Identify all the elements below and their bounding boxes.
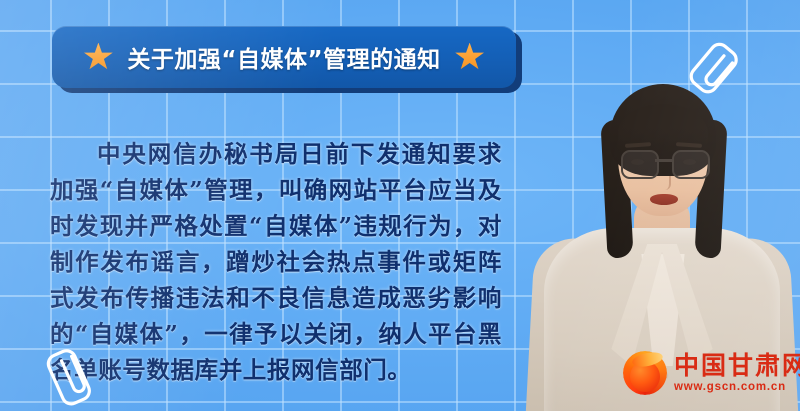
presenter-mouth — [650, 194, 678, 205]
watermark-text: 中国甘肃网 www.gscn.com.cn — [674, 353, 800, 393]
glasses-icon-bridge — [655, 159, 672, 162]
glasses-icon-left-lens — [621, 150, 659, 179]
glasses-icon-right-lens — [672, 150, 710, 179]
video-frame: 关于加强“自媒体”管理的通知 中央网信办秘书局日前下发通知要求加强“自媒体”管理… — [0, 0, 800, 411]
banner-title: 关于加强“自媒体”管理的通知 — [127, 40, 440, 74]
news-paragraph: 中央网信办秘书局日前下发通知要求加强“自媒体”管理，叫确网站平台应当及时发现并严… — [50, 136, 502, 388]
watermark-url: www.gscn.com.cn — [674, 381, 800, 393]
presenter-nose — [660, 176, 671, 190]
gscn-logo-icon — [622, 350, 668, 396]
watermark-site-name: 中国甘肃网 — [674, 353, 800, 378]
title-banner: 关于加强“自媒体”管理的通知 — [52, 26, 516, 88]
star-icon-right — [455, 43, 485, 72]
watermark: 中国甘肃网 www.gscn.com.cn — [622, 346, 794, 400]
star-icon-left — [83, 43, 113, 72]
